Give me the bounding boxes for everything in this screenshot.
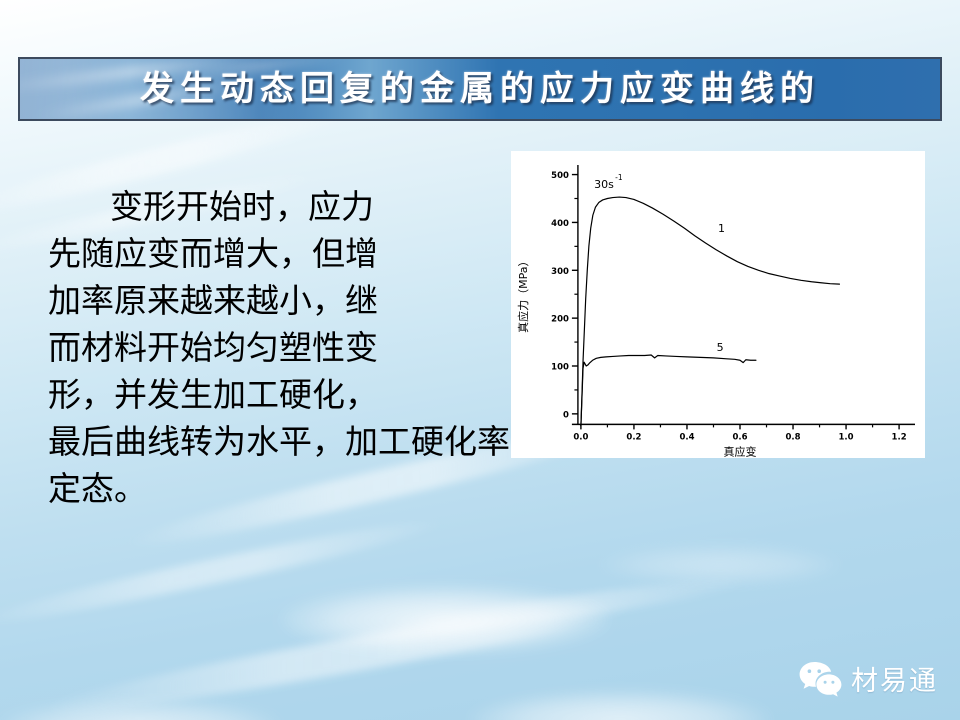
svg-text:1.0: 1.0 bbox=[839, 432, 854, 442]
chart-axes: 01002003004005000.00.20.40.60.81.01.2 bbox=[551, 165, 915, 442]
svg-text:0.8: 0.8 bbox=[785, 432, 800, 442]
svg-text:0: 0 bbox=[563, 410, 569, 420]
curve-1 bbox=[581, 197, 840, 426]
svg-text:400: 400 bbox=[551, 219, 569, 229]
chart-series bbox=[581, 197, 840, 426]
watermark-label: 材易通 bbox=[851, 659, 938, 698]
svg-text:500: 500 bbox=[551, 171, 569, 181]
svg-text:0.0: 0.0 bbox=[573, 432, 588, 442]
svg-text:300: 300 bbox=[551, 267, 569, 277]
curve-5 bbox=[581, 355, 756, 426]
watermark: 材易通 bbox=[798, 659, 938, 698]
curve-label-1: 1 bbox=[718, 222, 725, 235]
rate-annotation: 30s bbox=[594, 178, 614, 191]
svg-text:0.6: 0.6 bbox=[732, 432, 747, 442]
paragraph-line: 定态。 bbox=[48, 465, 768, 512]
svg-text:0.4: 0.4 bbox=[679, 432, 694, 442]
slide-canvas: 发生动态回复的金属的应力应变曲线的 变形开始时，应力 先随应变而增大，但增 加率… bbox=[0, 0, 960, 720]
curve-label-5: 5 bbox=[717, 341, 724, 354]
page-title: 发生动态回复的金属的应力应变曲线的 bbox=[20, 59, 940, 119]
svg-text:200: 200 bbox=[551, 315, 569, 325]
svg-text:0.2: 0.2 bbox=[626, 432, 641, 442]
svg-text:1.2: 1.2 bbox=[892, 432, 907, 442]
stress-strain-chart: 01002003004005000.00.20.40.60.81.01.2 15… bbox=[511, 151, 925, 458]
slide-title-bar: 发生动态回复的金属的应力应变曲线的 bbox=[18, 57, 942, 121]
x-axis-label: 真应变 bbox=[724, 444, 757, 458]
rate-annotation-superscript: -1 bbox=[615, 173, 623, 182]
y-axis-label: 真应力（MPa） bbox=[516, 256, 530, 333]
wechat-icon bbox=[798, 660, 842, 698]
chart-svg: 01002003004005000.00.20.40.60.81.01.2 15… bbox=[511, 151, 925, 458]
svg-text:100: 100 bbox=[551, 363, 569, 373]
